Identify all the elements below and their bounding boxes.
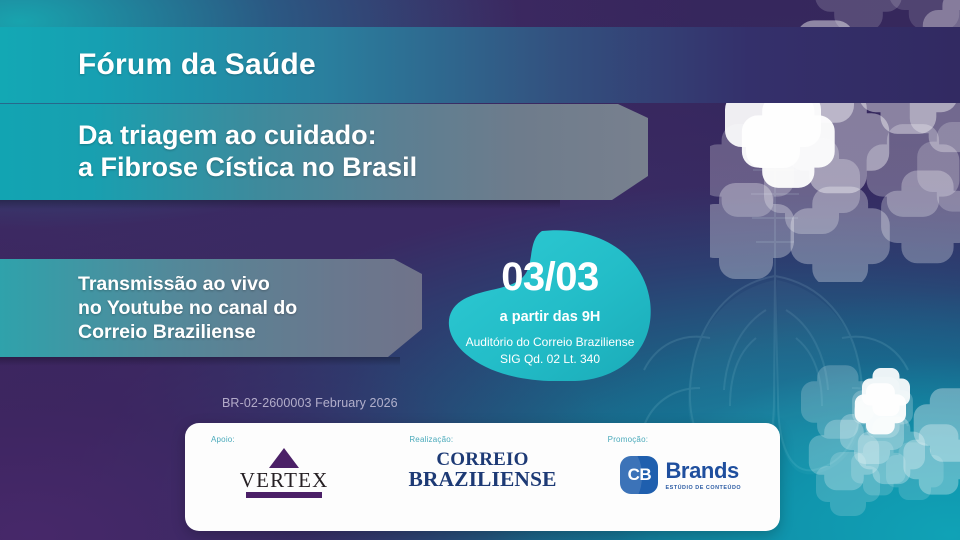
vertex-logo-icon: VERTEX	[228, 448, 340, 498]
sponsor-realizacao: Realização: CORREIO BRAZILIENSE	[383, 423, 581, 531]
vertex-bar-icon	[246, 492, 322, 498]
brands-wordmark: Brands	[665, 460, 741, 482]
cb-badge-text: CB	[628, 465, 652, 485]
transmission-text: Transmissão ao vivo no Youtube no canal …	[78, 272, 297, 345]
transmission-line-1: Transmissão ao vivo	[78, 272, 297, 296]
cb-brands-logo-icon: CB Brands ESTÚDIO DE CONTEÚDO	[620, 456, 741, 494]
subtitle-text: Da triagem ao cuidado: a Fibrose Cística…	[78, 120, 417, 183]
venue-line-2: SIG Qd. 02 Lt. 340	[466, 351, 635, 368]
transmission-band: Transmissão ao vivo no Youtube no canal …	[0, 259, 422, 357]
transmission-line-2: no Youtube no canal do	[78, 296, 297, 320]
title-band: Fórum da Saúde	[0, 27, 960, 103]
subtitle-line-2: a Fibrose Cística no Brasil	[78, 152, 417, 184]
event-time: a partir das 9H	[500, 309, 601, 325]
realizacao-kicker: Realização:	[409, 435, 453, 444]
date-badge: 03/03 a partir das 9H Auditório do Corre…	[447, 229, 653, 381]
promocao-kicker: Promoção:	[608, 435, 648, 444]
sponsor-apoio: Apoio: VERTEX	[185, 423, 383, 531]
correio-braziliense-logo-icon: CORREIO BRAZILIENSE	[408, 451, 556, 490]
event-date: 03/03	[501, 257, 599, 297]
apoio-kicker: Apoio:	[211, 435, 235, 444]
vertex-triangle-icon	[269, 448, 299, 468]
brands-tagline: ESTÚDIO DE CONTEÚDO	[665, 485, 741, 491]
poster-canvas: Fórum da Saúde Da triagem ao cuidado: a …	[0, 0, 960, 540]
venue-line-1: Auditório do Correio Braziliense	[466, 334, 635, 351]
vertex-wordmark: VERTEX	[240, 469, 329, 491]
subtitle-band: Da triagem ao cuidado: a Fibrose Cística…	[0, 104, 648, 200]
page-title: Fórum da Saúde	[78, 48, 316, 82]
cb-badge-icon: CB	[620, 456, 658, 494]
brands-wordmark-group: Brands ESTÚDIO DE CONTEÚDO	[665, 460, 741, 491]
event-venue: Auditório do Correio Braziliense SIG Qd.…	[466, 334, 635, 369]
sponsor-promocao: Promoção: CB Brands ESTÚDIO DE CONTEÚDO	[582, 423, 780, 531]
transmission-line-3: Correio Braziliense	[78, 320, 297, 344]
correio-line-2: BRAZILIENSE	[408, 469, 556, 490]
sponsor-logo-bar: Apoio: VERTEX Realização: CORREIO BRAZIL…	[185, 423, 780, 531]
legal-code-text: BR-02-2600003 February 2026	[222, 396, 398, 410]
subtitle-line-1: Da triagem ao cuidado:	[78, 120, 417, 152]
